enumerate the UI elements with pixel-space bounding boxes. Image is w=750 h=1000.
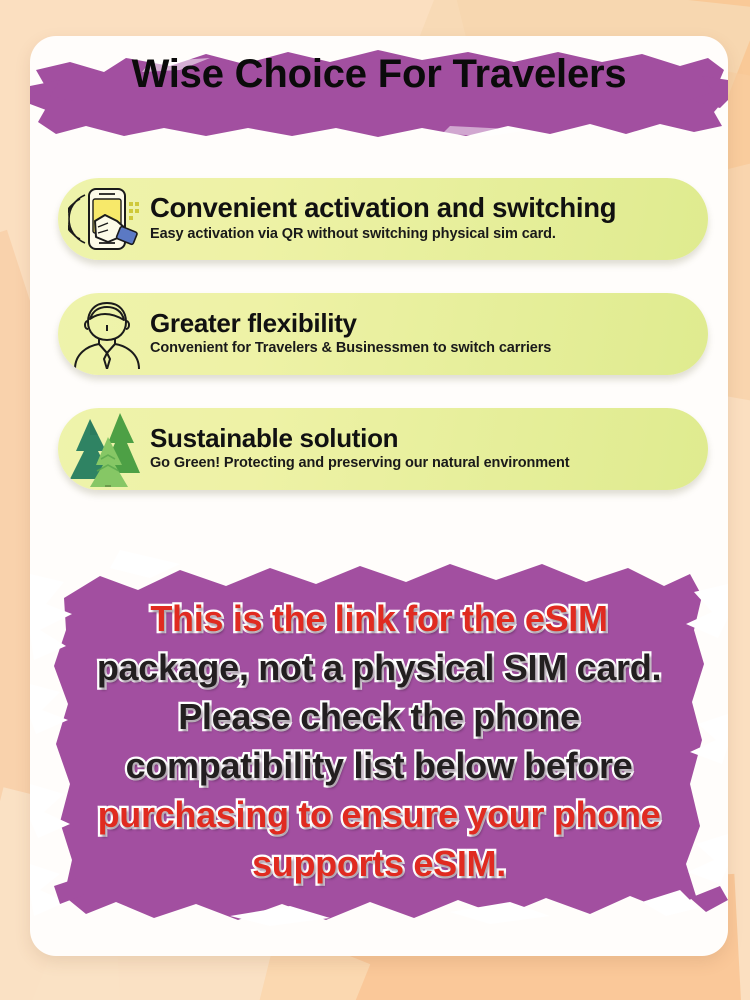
notice-line: This is the link for the eSIM [30,594,728,643]
feature-text-block: Convenient activation and switching Easy… [150,193,708,245]
feature-text-block: Greater flexibility Convenient for Trave… [150,309,708,359]
page-title: Wise Choice For Travelers [30,52,728,97]
promo-card: Wise Choice For Travelers [30,36,728,956]
feature-item-sustainable-solution[interactable]: Sustainable solution Go Green! Protectin… [58,408,708,490]
feature-subtitle: Convenient for Travelers & Businessmen t… [150,340,690,357]
notice-line: package, not a physical SIM card. [30,643,728,692]
businessman-icon [58,293,150,375]
feature-subtitle: Go Green! Protecting and preserving our … [150,455,690,472]
feature-title: Greater flexibility [150,309,690,337]
notice-message: This is the link for the eSIM package, n… [30,594,728,888]
phone-tap-qr-activation-icon [58,178,150,260]
feature-title: Convenient activation and switching [150,193,690,223]
feature-text-block: Sustainable solution Go Green! Protectin… [150,424,708,474]
pine-trees-icon [58,408,150,490]
notice-line: purchasing to ensure your phone [30,790,728,839]
notice-line: supports eSIM. [30,839,728,888]
notice-line: compatibility list below before [30,741,728,790]
feature-item-greater-flexibility[interactable]: Greater flexibility Convenient for Trave… [58,293,708,375]
feature-subtitle: Easy activation via QR without switching… [150,226,690,243]
feature-list: Convenient activation and switching Easy… [58,178,708,523]
feature-item-convenient-activation[interactable]: Convenient activation and switching Easy… [58,178,708,260]
notice-line: Please check the phone [30,692,728,741]
feature-title: Sustainable solution [150,424,690,452]
